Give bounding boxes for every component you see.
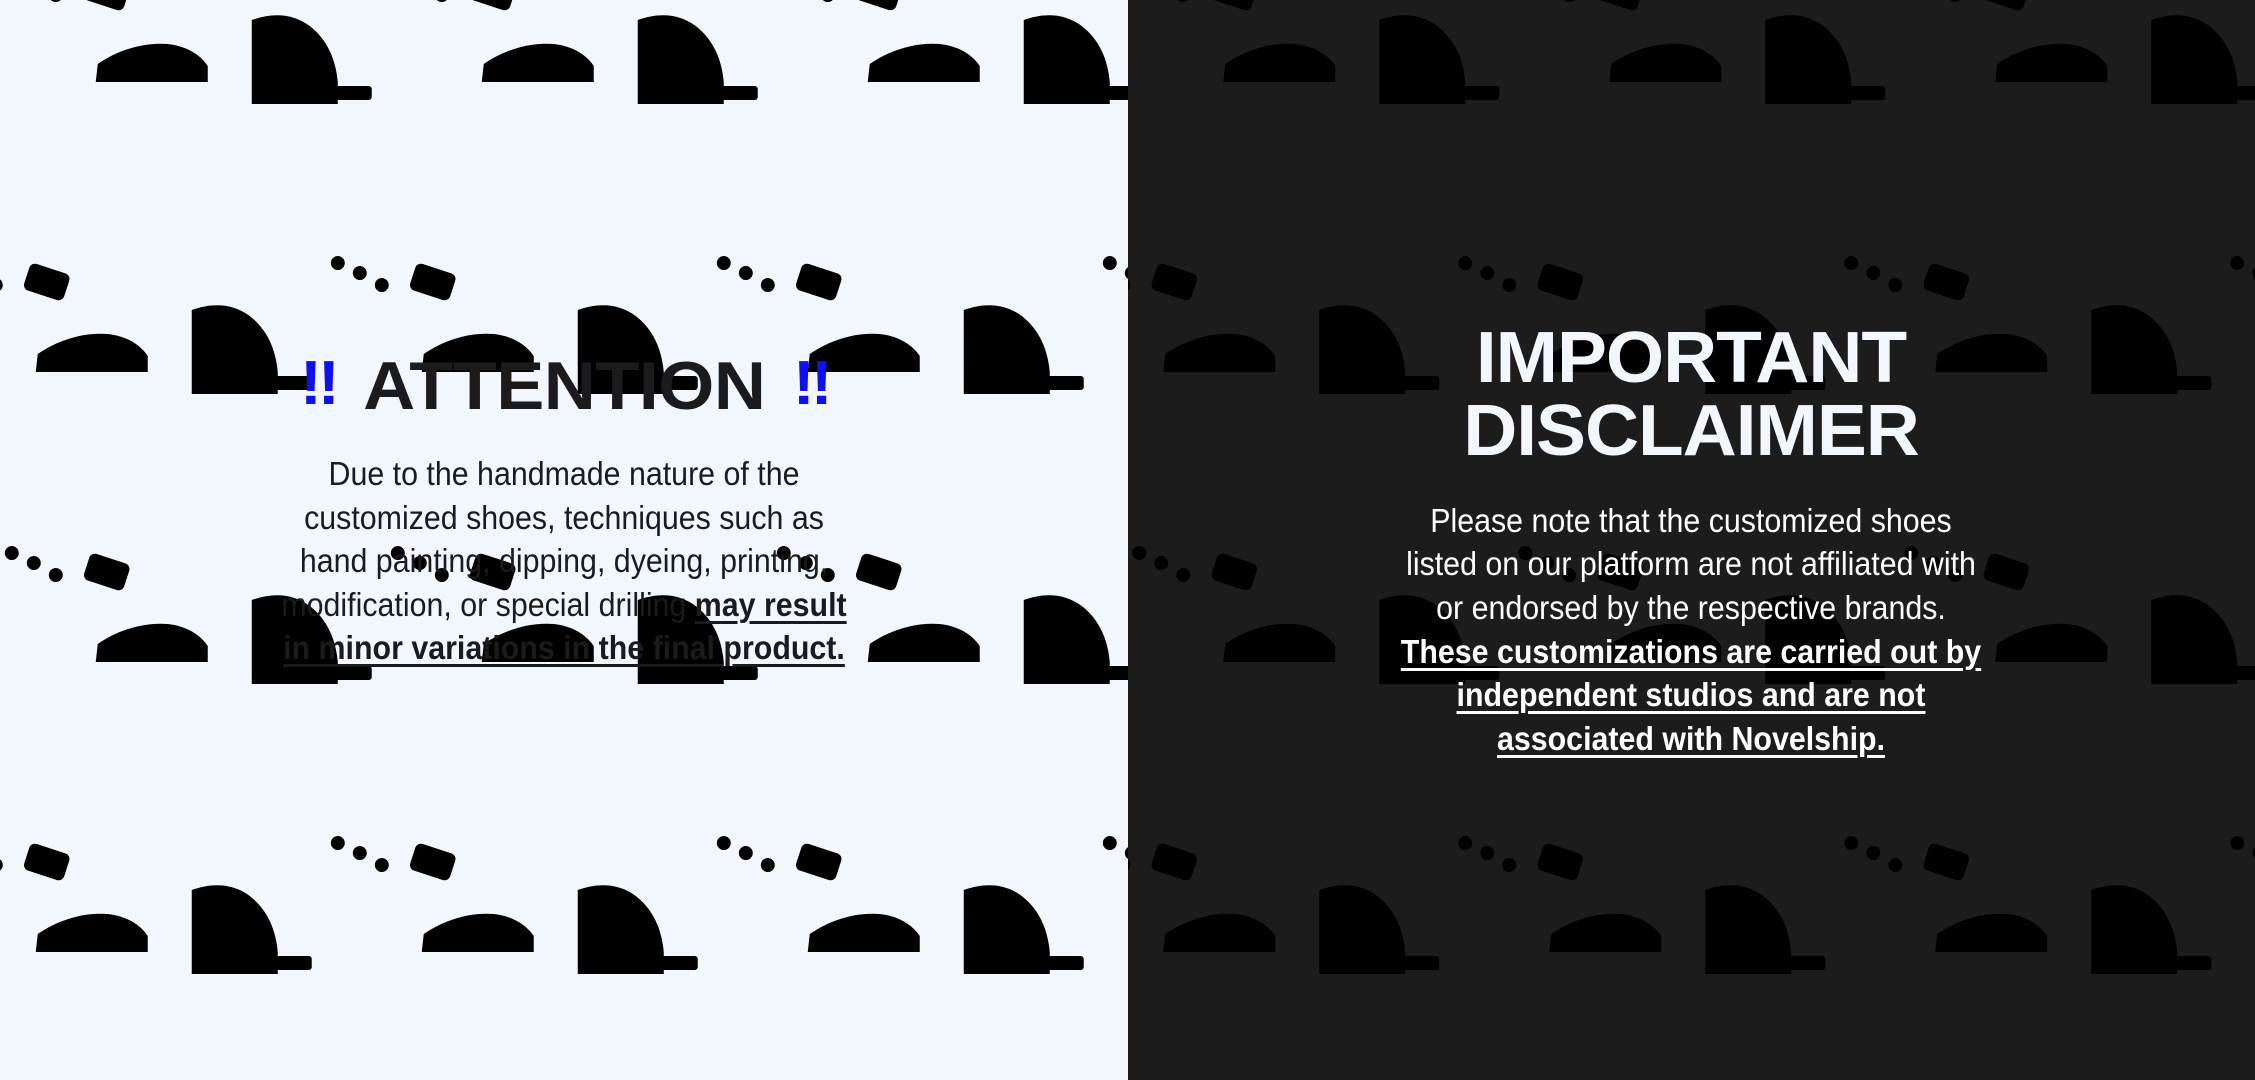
attention-disclaimer-banner: .tile-light [fill="none"] { stroke: #e2e… [0,0,2255,1080]
attention-headline-text: ATTENTION [363,352,765,420]
disclaimer-content: IMPORTANT DISCLAIMER Please note that th… [1128,0,2255,760]
disclaimer-body-plain: Please note that the customized shoes li… [1406,502,1976,626]
disclaimer-body: Please note that the customized shoes li… [1397,499,1986,760]
disclaimer-headline: IMPORTANT DISCLAIMER [1463,322,1919,469]
disclaimer-body-emphasis: These customizations are carried out by … [1401,633,1981,757]
attention-headline: ‼ ATTENTION ‼ [300,352,828,420]
disclaimer-panel: .tile-dark [fill="none"] { stroke: #0e0e… [1128,0,2255,1080]
double-exclamation-icon-right: ‼ [792,353,827,415]
attention-content: ‼ ATTENTION ‼ Due to the handmade nature… [0,0,1128,670]
double-exclamation-icon-left: ‼ [300,353,335,415]
attention-panel: .tile-light [fill="none"] { stroke: #e2e… [0,0,1128,1080]
disclaimer-headline-line-1: IMPORTANT [1463,322,1919,395]
attention-body: Due to the handmade nature of the custom… [279,452,849,670]
disclaimer-headline-line-2: DISCLAIMER [1463,395,1919,468]
